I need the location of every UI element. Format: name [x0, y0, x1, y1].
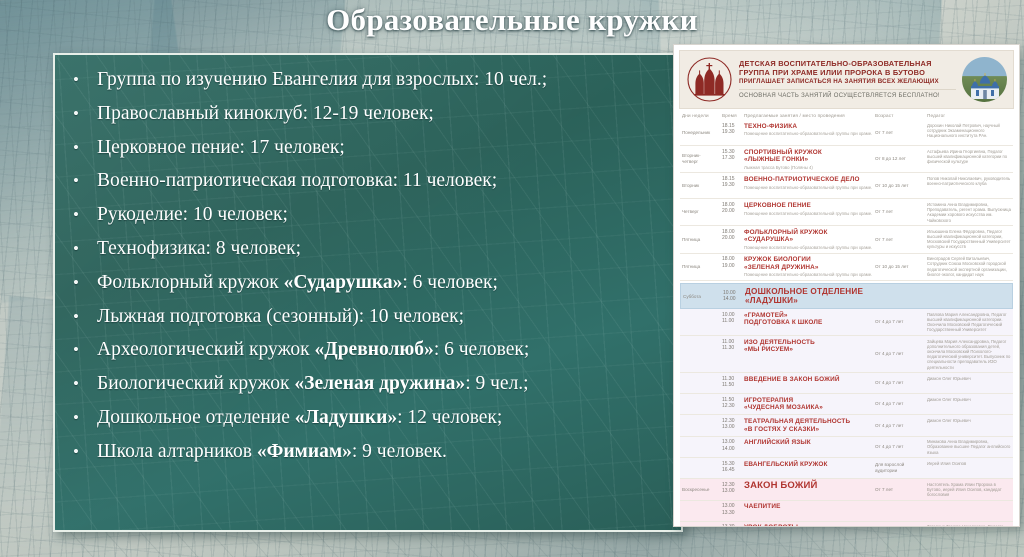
- row-age: От 4 до 7 лет: [875, 380, 927, 386]
- row-time: 13.0013.30: [722, 503, 744, 516]
- row-time: 18.1519.30: [722, 123, 744, 136]
- club-list-item: Военно-патриотическая подготовка: 11 чел…: [55, 164, 681, 198]
- club-list-item: Группа по изучению Евангелия для взрослы…: [55, 63, 681, 97]
- schedule-row: 15.3016.45ЕВАНГЕЛЬСКИЙ КРУЖОКДля взросло…: [680, 458, 1013, 479]
- schedule-row: 10.0011.00«ГРАМОТЕЙ»ПОДГОТОВКА К ШКОЛЕОт…: [680, 309, 1013, 336]
- row-time: 11.0011.30: [722, 339, 744, 352]
- column-header-time: Время: [722, 113, 744, 118]
- row-activity: ЧАЕПИТИЕ: [744, 503, 875, 511]
- table-column-headers: Дни недели Время Предлагаемые занятия / …: [680, 113, 1013, 120]
- row-teacher: Минакова Анна Владимировна, Образование …: [927, 439, 1011, 455]
- row-teacher: Диакон Олег Юрьевич: [927, 397, 1011, 402]
- row-activity: «ГРАМОТЕЙ»ПОДГОТОВКА К ШКОЛЕ: [744, 312, 875, 327]
- row-day: Вторник: [682, 183, 722, 189]
- club-list-item: Биологический кружок «Зеленая дружина»: …: [55, 367, 681, 401]
- row-teacher: Настоятель Храма Илии Пророка в Бутово, …: [927, 482, 1011, 498]
- row-activity: ВВЕДЕНИЕ В ЗАКОН БОЖИЙ: [744, 376, 875, 384]
- row-activity-place: Помещение воспитательно-образовательной …: [744, 211, 875, 216]
- row-activity: УРОК ДОБРОТЫ: [744, 524, 875, 527]
- schedule-row: Пятница18.0019.00КРУЖОК БИОЛОГИИ«ЗЕЛЕНАЯ…: [680, 254, 1013, 281]
- row-time: 12.3013.00: [722, 482, 744, 495]
- row-time: 15.3016.45: [722, 461, 744, 474]
- table-body-main: Понедельник18.1519.30ТЕХНО-ФИЗИКАПомещен…: [680, 120, 1013, 281]
- row-activity: ИЗО ДЕЯТЕЛЬНОСТЬ«МЫ РИСУЕМ»: [744, 339, 875, 354]
- row-age: От 4 до 7 лет: [875, 351, 927, 357]
- row-age: От 4 до 7 лет: [875, 423, 927, 429]
- row-activity: СПОРТИВНЫЙ КРУЖОК«ЛЫЖНЫЕ ГОНКИ»Лыжная тр…: [744, 149, 875, 170]
- schedule-row: 13.3014.00УРОК ДОБРОТЫОт 7 до 15 летТете…: [680, 522, 1013, 527]
- club-list-item: Церковное пение: 17 человек;: [55, 131, 681, 165]
- row-time: 11.3011.50: [722, 376, 744, 389]
- row-age: От 7 лет: [875, 487, 927, 493]
- row-teacher: Диакон Олег Юрьевич: [927, 376, 1011, 381]
- row-teacher: Диакон Олег Юрьевич: [927, 418, 1011, 423]
- club-list-item: Технофизика: 8 человек;: [55, 232, 681, 266]
- row-time: 12.3013.00: [722, 418, 744, 431]
- schedule-row: Вторник18.1519.30ВОЕННО-ПАТРИОТИЧЕСКОЕ Д…: [680, 173, 1013, 199]
- row-teacher: Иерей Илия Осипов: [927, 461, 1011, 466]
- club-list-item: Археологический кружок «Древнолюб»: 6 че…: [55, 333, 681, 367]
- row-activity: ФОЛЬКЛОРНЫЙ КРУЖОК«СУДАРУШКА»Помещение в…: [744, 229, 875, 250]
- church-silhouette-logo-icon: [686, 57, 733, 102]
- row-activity: ИГРОТЕРАПИЯ«ЧУДЕСНАЯ МОЗАИКА»: [744, 397, 875, 412]
- row-age: От 4 до 7 лет: [875, 319, 927, 325]
- preschool-section-day: Суббота: [683, 294, 723, 299]
- row-time: 10.0011.00: [722, 312, 744, 325]
- row-activity-title: АНГЛИЙСКИЙ ЯЗЫК: [744, 439, 875, 447]
- column-header-teacher: Педагог: [927, 113, 1011, 118]
- schedule-row: 11.5012.30ИГРОТЕРАПИЯ«ЧУДЕСНАЯ МОЗАИКА»О…: [680, 394, 1013, 415]
- schedule-row: 12.3013.00ТЕАТРАЛЬНАЯ ДЕЯТЕЛЬНОСТЬ«В ГОС…: [680, 415, 1013, 436]
- club-list-item: Православный киноклуб: 12-19 человек;: [55, 97, 681, 131]
- church-photo: [962, 57, 1007, 102]
- row-time: 18.1519.30: [722, 176, 744, 189]
- row-activity: АНГЛИЙСКИЙ ЯЗЫК: [744, 439, 875, 447]
- schedule-row: Воскресенье12.3013.00ЗАКОН БОЖИЙОт 7 лет…: [680, 479, 1013, 501]
- row-teacher: Зайцева Мария Александровна, Педагог доп…: [927, 339, 1011, 370]
- row-time: 18.0020.00: [722, 202, 744, 215]
- row-activity-title: СПОРТИВНЫЙ КРУЖОК«ЛЫЖНЫЕ ГОНКИ»: [744, 149, 875, 164]
- poster-header: ДЕТСКАЯ ВОСПИТАТЕЛЬНО-ОБРАЗОВАТЕЛЬНАЯ ГР…: [679, 50, 1014, 109]
- row-activity-place: Помещение воспитательно-образовательной …: [744, 245, 875, 250]
- row-day: Пятница: [682, 264, 722, 270]
- row-teacher: Астафьева Ирина Георгиевна, Педагог высш…: [927, 149, 1011, 165]
- row-activity-title: ТЕХНО-ФИЗИКА: [744, 123, 875, 131]
- row-activity-place: Помещение воспитательно-образовательной …: [744, 272, 875, 277]
- schedule-row: 11.0011.30ИЗО ДЕЯТЕЛЬНОСТЬ«МЫ РИСУЕМ»От …: [680, 336, 1013, 373]
- row-activity: КРУЖОК БИОЛОГИИ«ЗЕЛЕНАЯ ДРУЖИНА»Помещени…: [744, 256, 875, 277]
- row-age: От 7 лет: [875, 130, 927, 136]
- row-activity: ВОЕННО-ПАТРИОТИЧЕСКОЕ ДЕЛОПомещение восп…: [744, 176, 875, 190]
- row-activity: ЗАКОН БОЖИЙ: [744, 482, 875, 490]
- row-activity-title: «ГРАМОТЕЙ»ПОДГОТОВКА К ШКОЛЕ: [744, 312, 875, 327]
- club-list-item: Дошкольное отделение «Ладушки»: 12 челов…: [55, 401, 681, 435]
- row-teacher: Дорохин Николай Петрович, научный сотруд…: [927, 123, 1011, 139]
- row-teacher: Тетерина Тамара Николаевна, Педагог высш…: [927, 524, 1011, 527]
- row-day: Вторник-четверг: [682, 153, 722, 165]
- row-age: От 4 до 7 лет: [875, 444, 927, 450]
- row-activity-place: Лыжная трасса Бутово (Поляны 4): [744, 165, 875, 170]
- table-body-preschool: Суббота10.0014.00ДОШКОЛЬНОЕ ОТДЕЛЕНИЕ «Л…: [680, 283, 1013, 479]
- schedule-row: 13.0013.30ЧАЕПИТИЕ: [680, 501, 1013, 522]
- row-day: Воскресенье: [682, 487, 722, 493]
- row-age: От 4 до 7 лет: [875, 401, 927, 407]
- row-activity-place: Помещение воспитательно-образовательной …: [744, 185, 875, 190]
- column-header-activity: Предлагаемые занятия / место проведения: [744, 113, 875, 118]
- row-teacher: Павлова Мария Александровна, Педагог выс…: [927, 312, 1011, 333]
- schedule-row: Четверг18.0020.00ЦЕРКОВНОЕ ПЕНИЕПомещени…: [680, 199, 1013, 226]
- club-list-item: Школа алтарников «Фимиам»: 9 человек.: [55, 435, 681, 469]
- row-teacher: Попов Николай Николаевич, руководитель в…: [927, 176, 1011, 186]
- row-activity: ЕВАНГЕЛЬСКИЙ КРУЖОК: [744, 461, 875, 469]
- row-age: От 7 лет: [875, 237, 927, 243]
- preschool-section-header: Суббота10.0014.00ДОШКОЛЬНОЕ ОТДЕЛЕНИЕ «Л…: [680, 283, 1013, 309]
- schedule-row: 13.0014.00АНГЛИЙСКИЙ ЯЗЫКОт 4 до 7 летМи…: [680, 437, 1013, 459]
- row-age: От 10 до 15 лет: [875, 183, 927, 189]
- column-header-age: Возраст: [875, 113, 927, 118]
- poster-headline-2: ГРУППА ПРИ ХРАМЕ ИЛИИ ПРОРОКА В БУТОВО: [739, 68, 956, 77]
- schedule-row: Пятница18.0020.00ФОЛЬКЛОРНЫЙ КРУЖОК«СУДА…: [680, 226, 1013, 253]
- schedule-row: 11.3011.50ВВЕДЕНИЕ В ЗАКОН БОЖИЙОт 4 до …: [680, 373, 1013, 394]
- table-body-sunday: Воскресенье12.3013.00ЗАКОН БОЖИЙОт 7 лет…: [680, 479, 1013, 527]
- row-activity-title: ТЕАТРАЛЬНАЯ ДЕЯТЕЛЬНОСТЬ«В ГОСТЯХ У СКАЗ…: [744, 418, 875, 433]
- row-time: 18.0020.00: [722, 229, 744, 242]
- column-header-day: Дни недели: [682, 113, 722, 118]
- poster-headline-3: ПРИГЛАШАЕТ ЗАПИСАТЬСЯ НА ЗАНЯТИЯ ВСЕХ ЖЕ…: [739, 78, 956, 87]
- club-list: Группа по изучению Евангелия для взрослы…: [55, 55, 681, 469]
- row-activity-title: ЗАКОН БОЖИЙ: [744, 482, 875, 490]
- row-activity-title: КРУЖОК БИОЛОГИИ«ЗЕЛЕНАЯ ДРУЖИНА»: [744, 256, 875, 271]
- row-day: Понедельник: [682, 130, 722, 136]
- row-age: От 7 лет: [875, 209, 927, 215]
- poster-headline-1: ДЕТСКАЯ ВОСПИТАТЕЛЬНО-ОБРАЗОВАТЕЛЬНАЯ: [739, 59, 956, 68]
- schedule-row: Вторник-четверг15.3017.30СПОРТИВНЫЙ КРУЖ…: [680, 146, 1013, 173]
- row-activity-title: ИГРОТЕРАПИЯ«ЧУДЕСНАЯ МОЗАИКА»: [744, 397, 875, 412]
- schedule-row: Понедельник18.1519.30ТЕХНО-ФИЗИКАПомещен…: [680, 120, 1013, 146]
- row-activity-title: УРОК ДОБРОТЫ: [744, 524, 875, 527]
- row-teacher: Виноградов Сергей Витальевич, Сотрудник …: [927, 256, 1011, 277]
- schedule-table: Дни недели Время Предлагаемые занятия / …: [680, 113, 1013, 527]
- row-activity-title: ЧАЕПИТИЕ: [744, 503, 875, 511]
- row-activity-title: ЕВАНГЕЛЬСКИЙ КРУЖОК: [744, 461, 875, 469]
- row-activity-place: Помещение воспитательно-образовательной …: [744, 131, 875, 136]
- row-activity-title: ФОЛЬКЛОРНЫЙ КРУЖОК«СУДАРУШКА»: [744, 229, 875, 244]
- preschool-section-title: ДОШКОЛЬНОЕ ОТДЕЛЕНИЕ «ЛАДУШКИ»: [745, 287, 874, 305]
- row-time: 13.0014.00: [722, 439, 744, 452]
- poster-headline-4: ОСНОВНАЯ ЧАСТЬ ЗАНЯТИЙ ОСУЩЕСТВЛЯЕТСЯ БЕ…: [739, 89, 956, 100]
- schedule-poster: ДЕТСКАЯ ВОСПИТАТЕЛЬНО-ОБРАЗОВАТЕЛЬНАЯ ГР…: [673, 44, 1020, 527]
- row-teacher: Ильюшина Елена Фёдоровна, Педагог высшей…: [927, 229, 1011, 250]
- row-activity: ТЕАТРАЛЬНАЯ ДЕЯТЕЛЬНОСТЬ«В ГОСТЯХ У СКАЗ…: [744, 418, 875, 433]
- row-activity: ЦЕРКОВНОЕ ПЕНИЕПомещение воспитательно-о…: [744, 202, 875, 216]
- row-age: От 10 до 15 лет: [875, 264, 927, 270]
- row-age: Для взрослой аудитории: [875, 462, 927, 474]
- row-activity-title: ВОЕННО-ПАТРИОТИЧЕСКОЕ ДЕЛО: [744, 176, 875, 184]
- row-time: 18.0019.00: [722, 256, 744, 269]
- row-time: 15.3017.30: [722, 149, 744, 162]
- row-day: Четверг: [682, 209, 722, 215]
- row-time: 13.3014.00: [722, 524, 744, 527]
- row-day: Пятница: [682, 237, 722, 243]
- row-time: 11.5012.30: [722, 397, 744, 410]
- slide-title: Образовательные кружки: [0, 2, 1024, 38]
- row-activity-title: ВВЕДЕНИЕ В ЗАКОН БОЖИЙ: [744, 376, 875, 384]
- club-list-item: Рукоделие: 10 человек;: [55, 198, 681, 232]
- club-list-item: Фольклорный кружок «Сударушка»: 6 челове…: [55, 266, 681, 300]
- row-teacher: Истомина Анна Владимировна, Преподавател…: [927, 202, 1011, 223]
- row-activity-title: ЦЕРКОВНОЕ ПЕНИЕ: [744, 202, 875, 210]
- club-list-item: Лыжная подготовка (сезонный): 10 человек…: [55, 300, 681, 334]
- row-activity-title: ИЗО ДЕЯТЕЛЬНОСТЬ«МЫ РИСУЕМ»: [744, 339, 875, 354]
- content-panel: Группа по изучению Евангелия для взрослы…: [53, 53, 683, 532]
- row-age: От 8 до 12 лет: [875, 156, 927, 162]
- poster-header-text: ДЕТСКАЯ ВОСПИТАТЕЛЬНО-ОБРАЗОВАТЕЛЬНАЯ ГР…: [739, 59, 956, 101]
- preschool-section-time: 10.0014.00: [723, 290, 745, 303]
- row-activity: ТЕХНО-ФИЗИКАПомещение воспитательно-обра…: [744, 123, 875, 137]
